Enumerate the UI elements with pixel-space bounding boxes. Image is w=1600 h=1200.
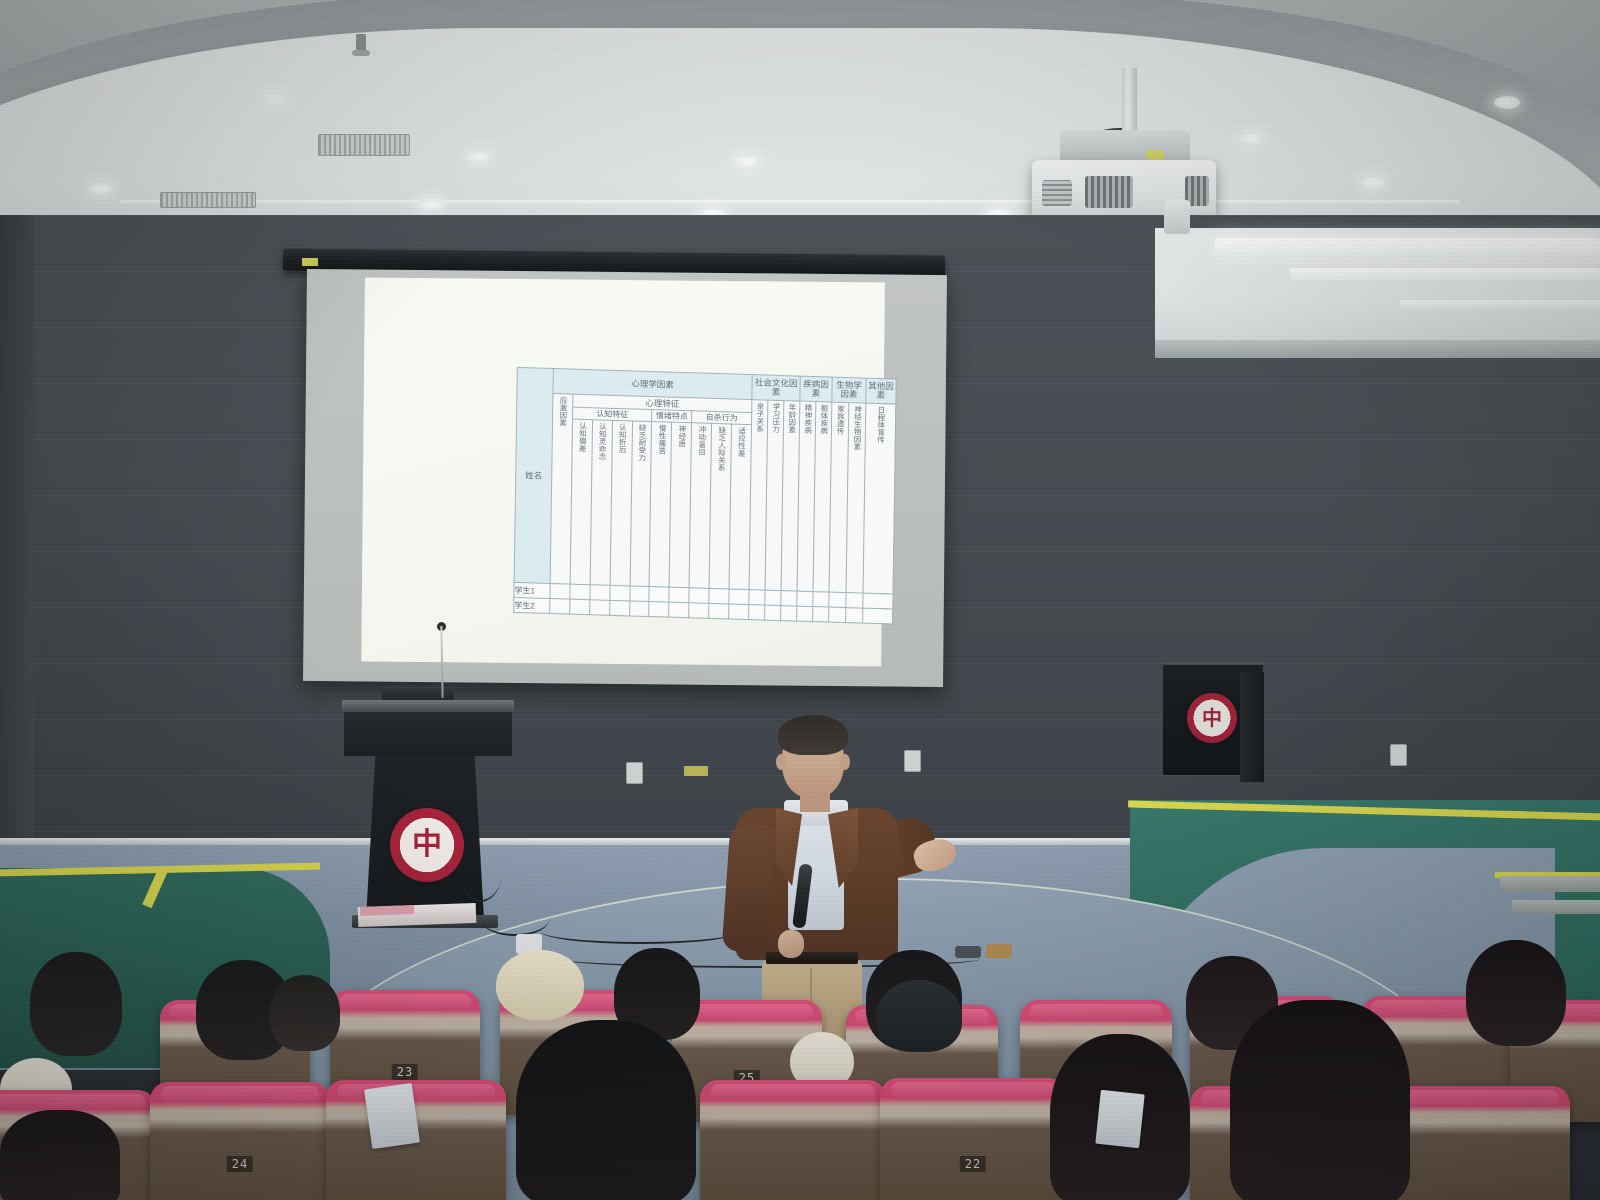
audience-knit-hat bbox=[876, 980, 962, 1052]
seat[interactable]: 24 bbox=[150, 1082, 330, 1200]
row-label-student1: 学生1 bbox=[514, 582, 550, 598]
row-label-student2: 学生2 bbox=[514, 597, 550, 613]
ceiling-downlight bbox=[1360, 176, 1386, 189]
ceiling-downlight bbox=[418, 198, 444, 211]
left-wall bbox=[0, 215, 34, 915]
ceiling-downlight bbox=[1238, 132, 1264, 145]
speaker-ear bbox=[840, 754, 850, 770]
wall-outlet bbox=[626, 762, 643, 784]
lecture-hall-photo: 姓名 心理学因素 社会文化因素 疾病因素 生物学因素 bbox=[0, 0, 1600, 1200]
ceiling-vent bbox=[318, 134, 410, 156]
seat-number: 23 bbox=[392, 1064, 418, 1080]
cell-low-tolerance: 缺乏耐受力 bbox=[630, 421, 652, 587]
sprinkler-icon bbox=[352, 50, 370, 56]
ceiling-downlight bbox=[88, 182, 114, 195]
wall-spotlight bbox=[1164, 200, 1190, 234]
ceiling-downlight bbox=[1494, 96, 1520, 109]
linear-light bbox=[1400, 300, 1600, 310]
projection-screen: 姓名 心理学因素 社会文化因素 疾病因素 生物学因素 bbox=[303, 269, 947, 687]
side-lectern-panel bbox=[1240, 672, 1264, 782]
cell-other-factor: 日程体育传 bbox=[863, 403, 896, 594]
audience-tablet bbox=[364, 1083, 420, 1149]
speaker-left-arm bbox=[722, 823, 777, 954]
cell-chronic-distress: 慢性痛苦 bbox=[650, 422, 672, 588]
audience-beret-hat bbox=[496, 950, 584, 1020]
speaker-belt bbox=[766, 952, 858, 964]
screen-housing-label bbox=[302, 258, 318, 266]
group-emotional: 情绪特点 bbox=[652, 410, 692, 423]
projector-lens bbox=[1042, 180, 1072, 206]
cell-cognitive-rigidity: 认知折后 bbox=[610, 420, 632, 586]
audience-head bbox=[270, 975, 340, 1051]
seat-number: 22 bbox=[960, 1156, 986, 1172]
audience-head-front bbox=[1230, 1000, 1410, 1200]
university-emblem: 中 bbox=[390, 808, 464, 882]
projector-mount-pole bbox=[1122, 68, 1137, 134]
header-sociocultural: 社会文化因素 bbox=[752, 375, 799, 400]
header-biological: 生物学因素 bbox=[832, 378, 865, 403]
projector-vent bbox=[1085, 176, 1133, 208]
university-emblem: 中 bbox=[1187, 693, 1237, 743]
audience-head bbox=[1466, 940, 1566, 1046]
projector-bracket bbox=[1060, 130, 1190, 164]
stage-wall-baseboard bbox=[0, 838, 1175, 845]
cell-cognitive-bias: 认知偏差 bbox=[570, 419, 592, 585]
wall-outlet bbox=[1390, 744, 1407, 766]
ceiling-downlight bbox=[262, 92, 288, 105]
stage-step bbox=[1512, 900, 1600, 914]
speaker-left-hand bbox=[778, 930, 804, 958]
speaker-hair bbox=[778, 715, 848, 755]
audience-tablet bbox=[1095, 1090, 1144, 1148]
cell-poor-adaptation: 适应性差 bbox=[729, 424, 751, 590]
speaker-ear bbox=[776, 754, 786, 770]
seat[interactable]: 22 bbox=[880, 1078, 1066, 1200]
soffit-underside bbox=[1155, 340, 1600, 358]
audience-head bbox=[30, 952, 122, 1056]
seat[interactable] bbox=[700, 1080, 886, 1200]
slide-table: 姓名 心理学因素 社会文化因素 疾病因素 生物学因素 bbox=[513, 367, 902, 669]
ceiling-seam bbox=[120, 200, 1460, 205]
header-name: 姓名 bbox=[516, 467, 551, 483]
stage-step bbox=[1500, 876, 1600, 892]
header-other: 其他因素 bbox=[866, 379, 895, 404]
podium-desk bbox=[344, 712, 512, 756]
cell-stress-factor: 应激因素 bbox=[550, 394, 573, 585]
linear-light bbox=[1215, 238, 1600, 254]
psychology-factor-table: 姓名 心理学因素 社会文化因素 疾病因素 生物学因素 bbox=[513, 367, 897, 625]
seat-number: 24 bbox=[227, 1156, 253, 1172]
cell-poor-relations: 缺乏人际关系 bbox=[709, 423, 731, 589]
floor-object bbox=[986, 944, 1012, 958]
header-psychological: 心理学因素 bbox=[554, 374, 752, 395]
linear-light bbox=[1290, 268, 1600, 280]
ceiling-vent bbox=[160, 192, 256, 208]
header-disease: 疾病因素 bbox=[800, 377, 831, 402]
cell-neuroticism: 神经质 bbox=[669, 422, 691, 588]
ceiling-downlight bbox=[734, 155, 760, 168]
ceiling-downlight bbox=[466, 150, 492, 163]
audience-head-front bbox=[0, 1110, 120, 1200]
audience-head-front bbox=[516, 1020, 696, 1200]
podium-paper-pink bbox=[360, 905, 414, 916]
cell-cognitive-belief: 认知灵命念 bbox=[590, 420, 612, 586]
cell-impulsivity: 冲动盲目 bbox=[689, 423, 711, 589]
projected-image: 姓名 心理学因素 社会文化因素 疾病因素 生物学因素 bbox=[361, 277, 885, 666]
